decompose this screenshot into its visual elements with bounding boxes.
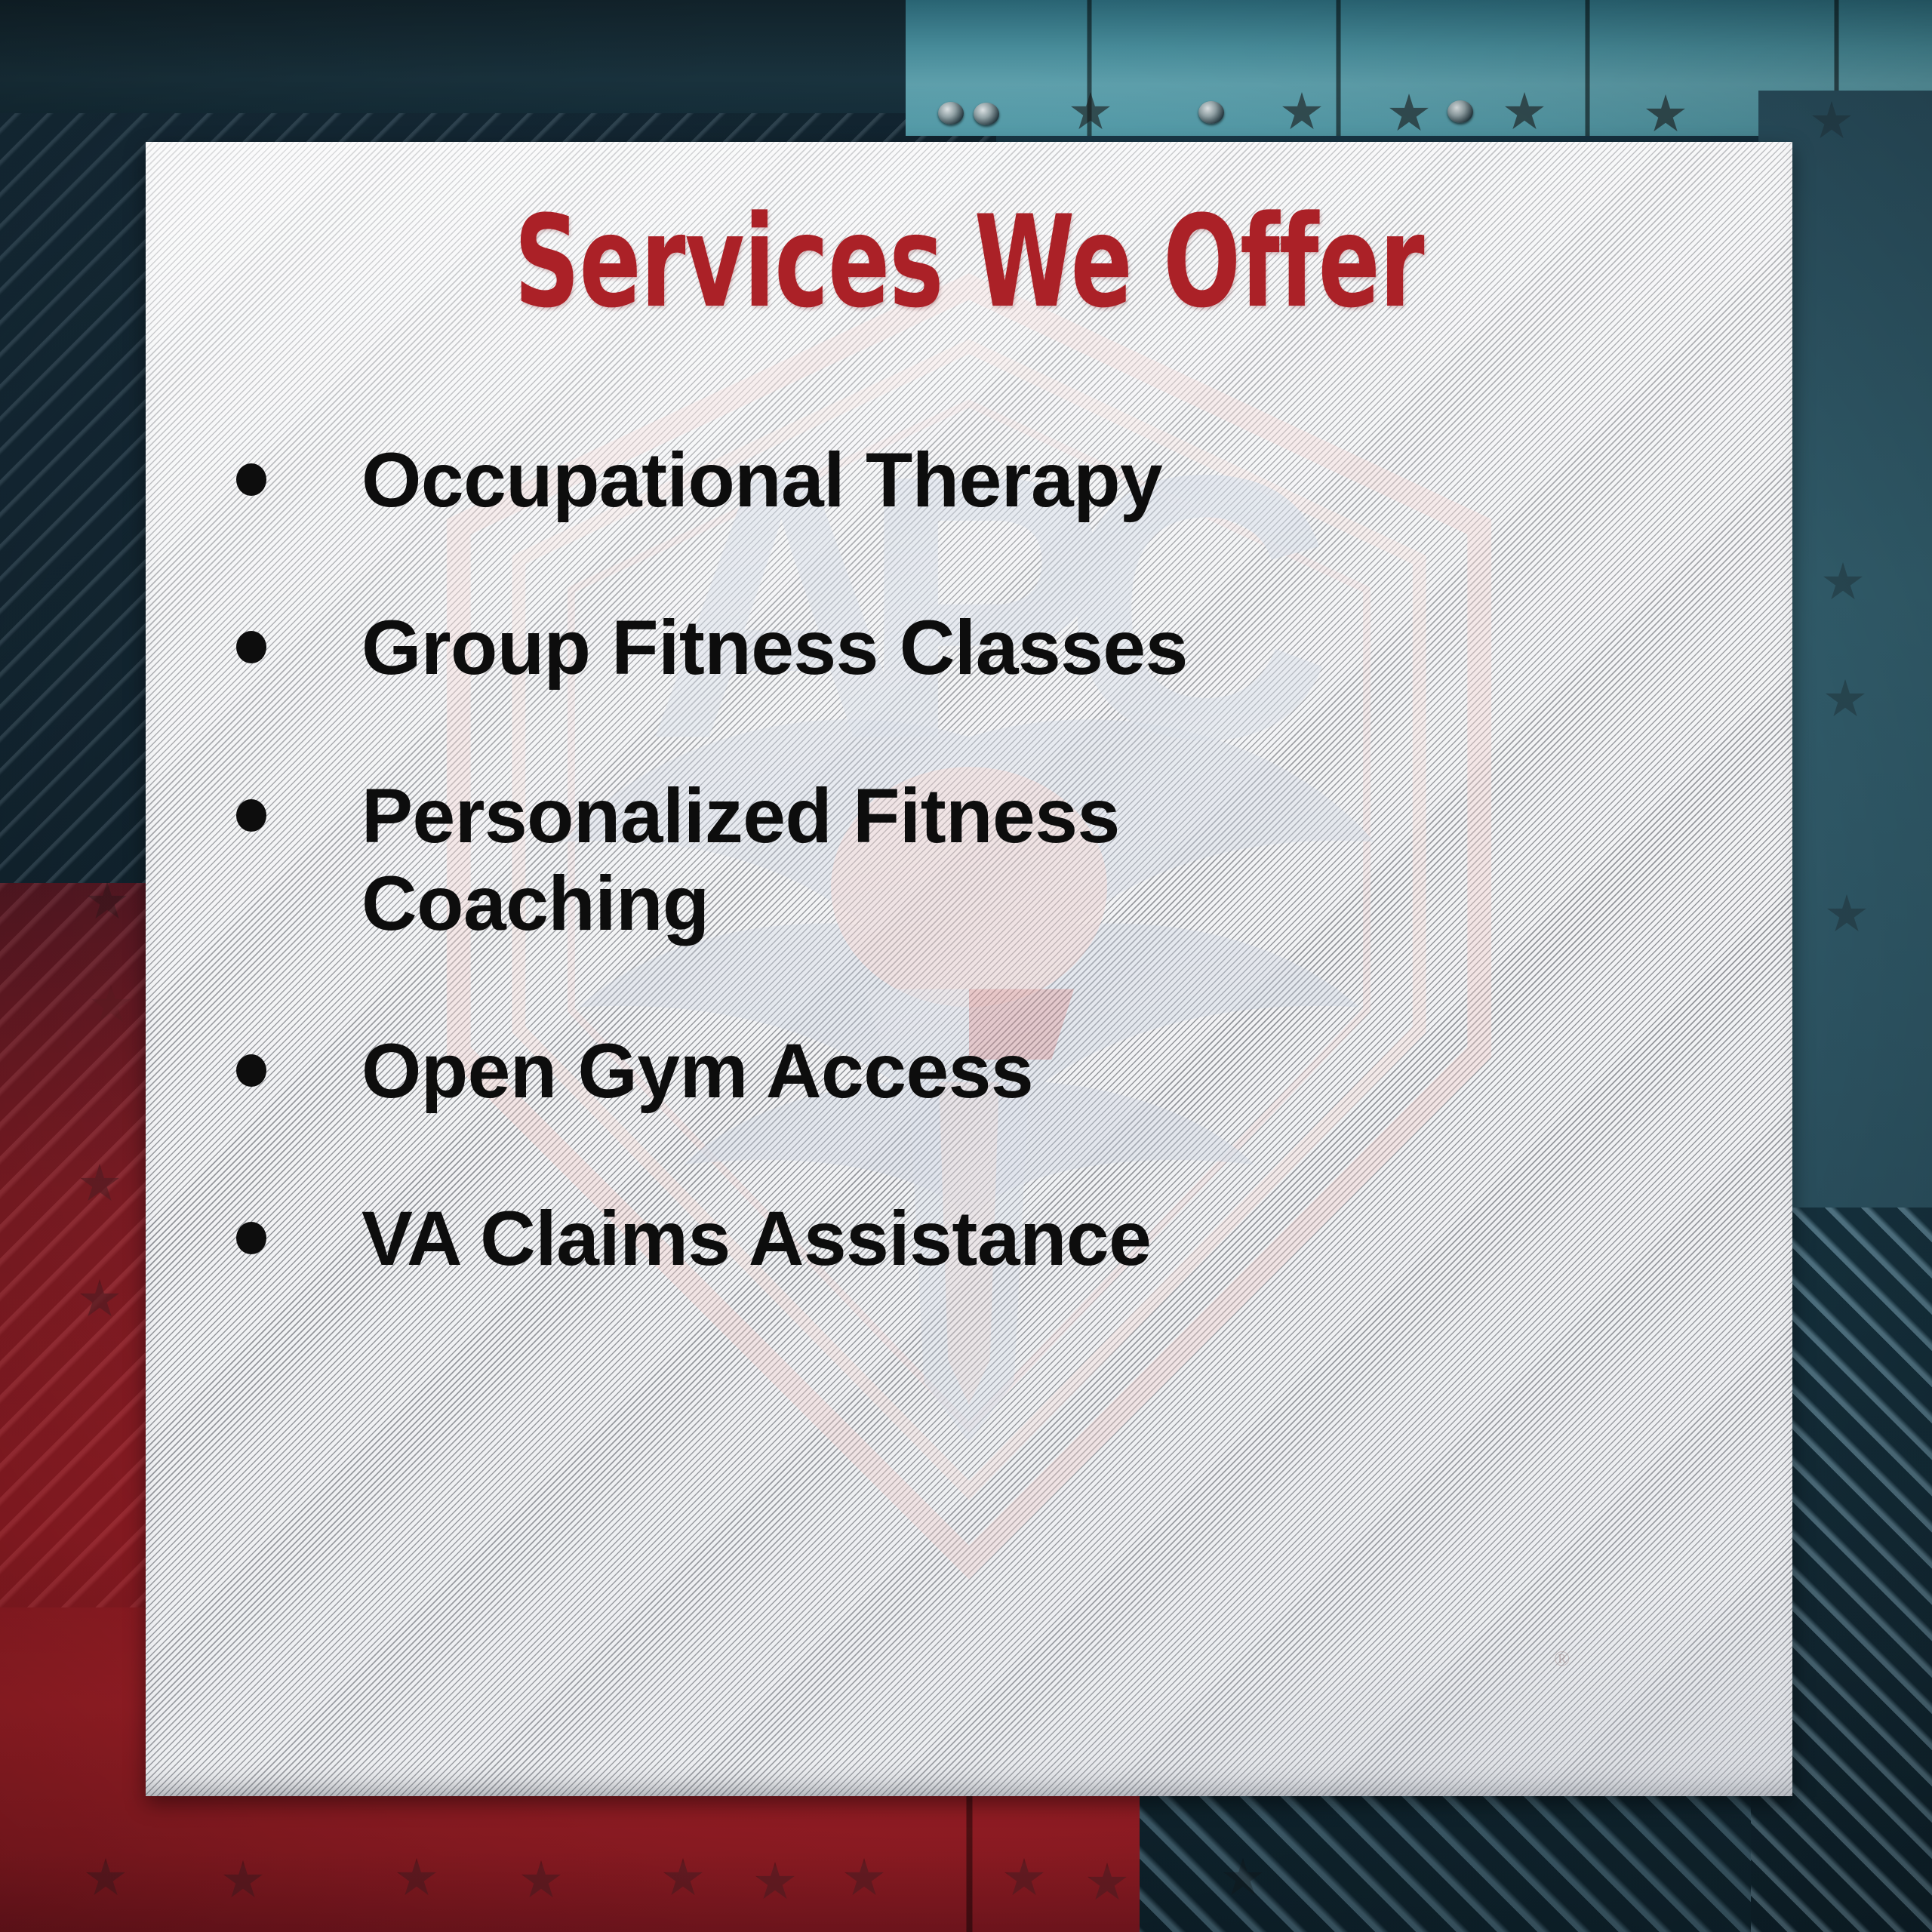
- rivet-icon: [1198, 101, 1224, 124]
- page-title: Services We Offer: [310, 198, 1628, 325]
- bullet-icon: [236, 1222, 266, 1254]
- list-item[interactable]: Personalized Fitness Coaching: [236, 772, 1564, 948]
- background-plate-top-dark: [0, 0, 928, 113]
- registered-trademark-mark: ®: [1554, 1647, 1570, 1672]
- list-item[interactable]: Group Fitness Classes: [236, 604, 1564, 691]
- list-item[interactable]: Occupational Therapy: [236, 436, 1564, 524]
- rivet-icon: [1447, 100, 1473, 123]
- bullet-icon: [236, 1054, 266, 1087]
- rivet-icon: [938, 102, 964, 125]
- service-label: Group Fitness Classes: [361, 604, 1564, 691]
- services-list: Occupational Therapy Group Fitness Class…: [236, 436, 1564, 1283]
- bullet-icon: [236, 463, 266, 496]
- service-label: VA Claims Assistance: [361, 1195, 1564, 1282]
- service-label: Personalized Fitness Coaching: [361, 772, 1207, 948]
- slide-canvas: A P C Services We Offer: [0, 0, 1932, 1932]
- bullet-icon: [236, 631, 266, 663]
- services-card: A P C Services We Offer: [146, 142, 1792, 1796]
- rivet-icon: [974, 103, 999, 125]
- list-item[interactable]: VA Claims Assistance: [236, 1195, 1564, 1282]
- service-label: Open Gym Access: [361, 1027, 1564, 1115]
- list-item[interactable]: Open Gym Access: [236, 1027, 1564, 1115]
- service-label: Occupational Therapy: [361, 436, 1564, 524]
- bullet-icon: [236, 799, 266, 832]
